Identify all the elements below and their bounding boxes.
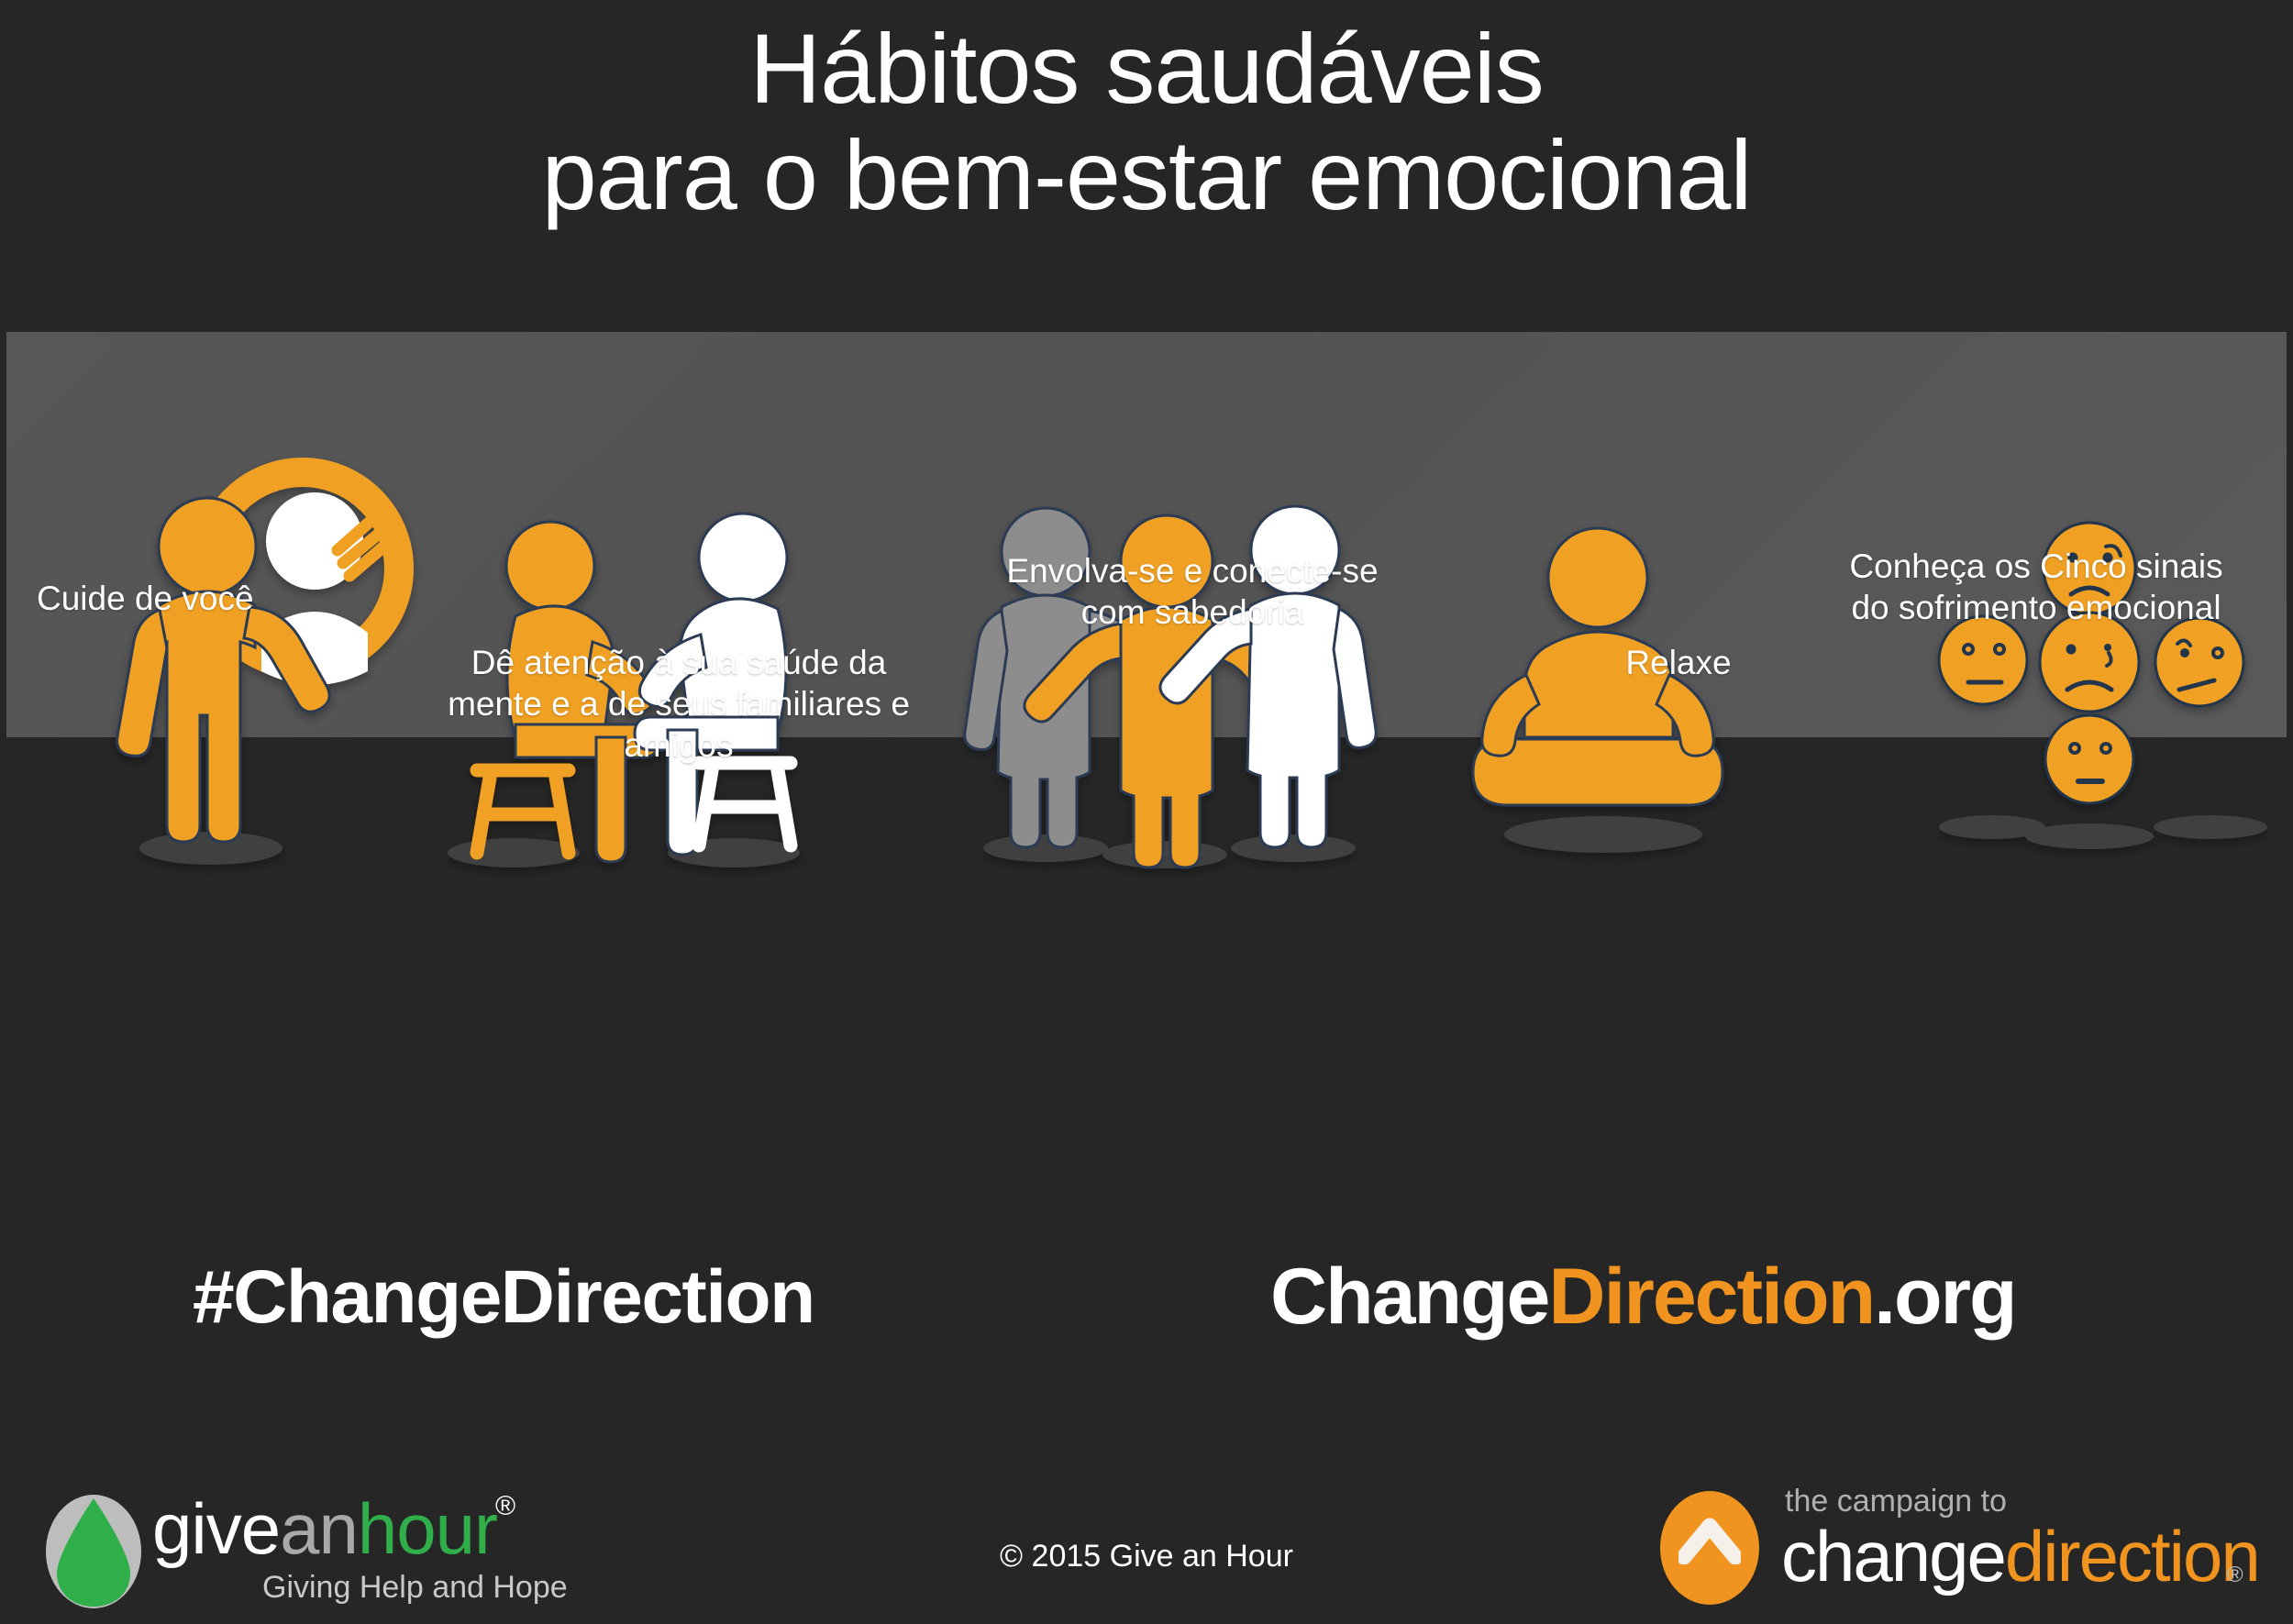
habits-illustrations [0,0,2293,1624]
habit-label-five-signs: Conheça os Cinco sinais do sofrimento em… [1770,546,2293,628]
teardrop-leaf-icon [44,1493,143,1610]
cdl-tagline: the campaign to [1785,1484,2007,1519]
gah-word-give: give [152,1488,280,1569]
page-title: Hábitos saudáveis para o bem-estar emoci… [0,18,2293,226]
cdl-registered-mark: ® [2227,1563,2243,1588]
habit-label-self-care: Cuide de você [37,578,468,619]
cdl-wordmark: changedirection [1781,1520,2259,1592]
habit-label-relax: Relaxe [1431,642,1926,683]
habit-label-pay-attention: Dê atenção à sua saúde da mente e a de s… [394,642,963,766]
cdl-word-change: change [1781,1516,2005,1596]
habit-label-engage-connect: Envolva-se e conecte-se com sabedoria [899,550,1486,633]
change-direction-logo[interactable]: the campaign to changedirection ® [1660,1478,2265,1616]
url-part-direction: Direction [1548,1253,1874,1341]
habits-panel [6,332,2287,737]
give-an-hour-logo[interactable]: giveanhour ® Giving Help and Hope [44,1486,631,1618]
gah-word-hour: hour [358,1488,497,1569]
title-line-2: para o bem-estar emocional [0,125,2293,226]
gah-word-an: an [280,1488,358,1569]
gah-registered-mark: ® [495,1491,515,1522]
hashtag-changedirection: #ChangeDirection [193,1254,814,1341]
cdl-word-direction: direction [2005,1516,2259,1596]
give-an-hour-wordmark: giveanhour [152,1493,497,1564]
chevron-up-icon [1678,1513,1741,1564]
url-part-tld: .org [1874,1253,2015,1341]
gah-tagline: Giving Help and Hope [262,1570,568,1606]
url-part-change: Change [1270,1253,1548,1341]
website-url[interactable]: ChangeDirection.org [1270,1252,2016,1342]
title-line-1: Hábitos saudáveis [0,18,2293,119]
poster-root: Hábitos saudáveis para o bem-estar emoci… [0,0,2293,1624]
